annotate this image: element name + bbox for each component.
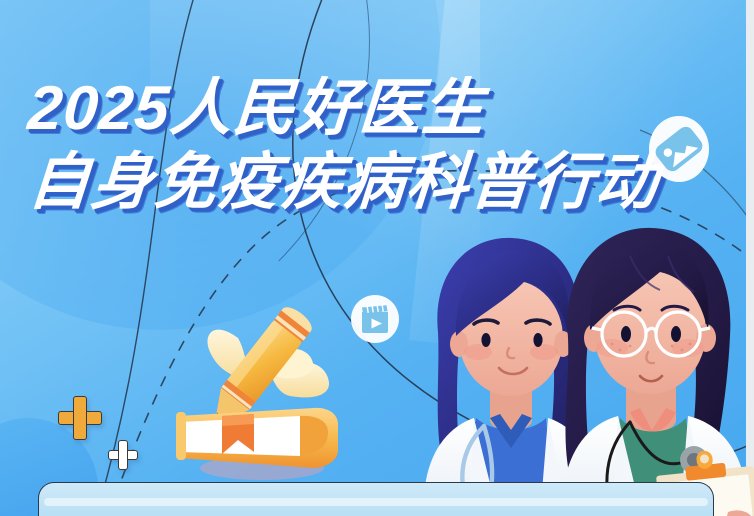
doctors-illustration <box>398 212 754 516</box>
page-title-line-1: 2025人民好医生 <box>26 78 730 140</box>
plus-icon <box>108 440 138 470</box>
page-title-line-2: 自身免疫疾病科普行动 <box>26 152 730 214</box>
image-icon <box>648 116 710 186</box>
doctor-right <box>558 228 754 516</box>
plus-icon <box>58 396 102 440</box>
title-block: 2025人民好医生 自身免疫疾病科普行动 <box>28 78 728 214</box>
desk-highlight <box>44 498 708 506</box>
poster-banner: 2025人民好医生 自身免疫疾病科普行动 <box>0 0 754 516</box>
book-icon <box>176 408 338 468</box>
winged-pencil-and-book-illustration <box>150 300 360 490</box>
